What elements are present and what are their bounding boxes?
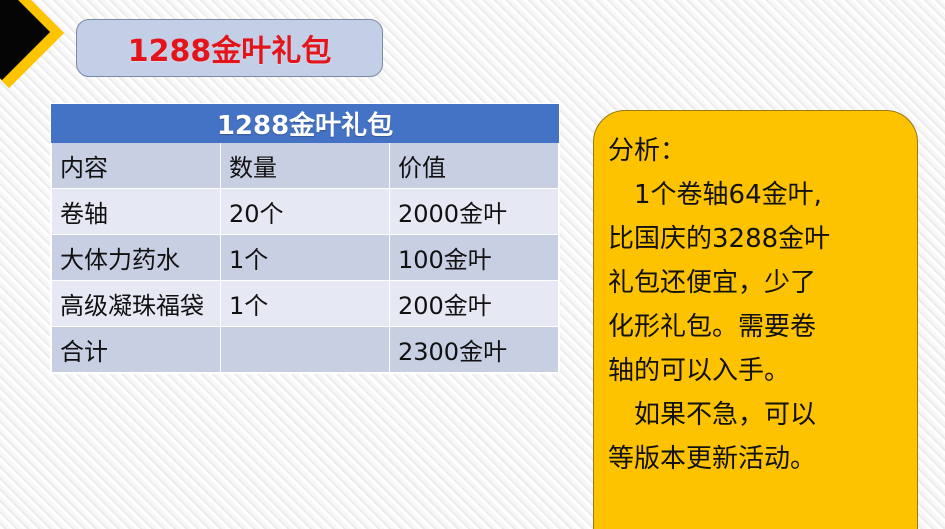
cell-item-qty: 20个 — [221, 189, 390, 235]
table-caption: 1288金叶礼包 — [52, 105, 559, 143]
table-row: 大体力药水 1个 100金叶 — [52, 235, 559, 281]
analysis-line: 轴的可以入手。 — [608, 349, 903, 393]
gift-pack-table-body: 1288金叶礼包 内容 数量 价值 卷轴 20个 2000金叶 大体力药水 1个… — [52, 105, 559, 373]
cell-item-value: 100金叶 — [390, 235, 559, 281]
cell-item-name: 大体力药水 — [52, 235, 221, 281]
analysis-line: 如果不急，可以 — [608, 393, 903, 437]
analysis-heading: 分析： — [608, 129, 903, 173]
table-caption-row: 1288金叶礼包 — [52, 105, 559, 143]
cell-item-value: 200金叶 — [390, 281, 559, 327]
table-total-row: 合计 2300金叶 — [52, 327, 559, 373]
cell-total-label: 合计 — [52, 327, 221, 373]
table-column-header-row: 内容 数量 价值 — [52, 143, 559, 189]
page-title: 1288金叶礼包 — [128, 26, 332, 70]
column-header-value: 价值 — [390, 143, 559, 189]
analysis-line: 化形礼包。需要卷 — [608, 305, 903, 349]
cell-total-value: 2300金叶 — [390, 327, 559, 373]
cell-item-name: 高级凝珠福袋 — [52, 281, 221, 327]
cell-item-value: 2000金叶 — [390, 189, 559, 235]
analysis-line: 等版本更新活动。 — [608, 437, 903, 481]
cell-item-name: 卷轴 — [52, 189, 221, 235]
gift-pack-table: 1288金叶礼包 内容 数量 价值 卷轴 20个 2000金叶 大体力药水 1个… — [51, 104, 559, 373]
analysis-callout: 分析： 1个卷轴64金叶, 比国庆的3288金叶 礼包还便宜，少了 化形礼包。需… — [593, 110, 918, 529]
analysis-line: 比国庆的3288金叶 — [608, 217, 903, 261]
column-header-content: 内容 — [52, 143, 221, 189]
analysis-line: 1个卷轴64金叶, — [608, 173, 903, 217]
slide-title-pill: 1288金叶礼包 — [76, 19, 383, 77]
table-row: 高级凝珠福袋 1个 200金叶 — [52, 281, 559, 327]
column-header-quantity: 数量 — [221, 143, 390, 189]
analysis-line: 礼包还便宜，少了 — [608, 261, 903, 305]
table-row: 卷轴 20个 2000金叶 — [52, 189, 559, 235]
cell-total-qty — [221, 327, 390, 373]
cell-item-qty: 1个 — [221, 281, 390, 327]
corner-arrow-decoration — [0, 0, 62, 104]
cell-item-qty: 1个 — [221, 235, 390, 281]
slide-canvas: 1288金叶礼包 1288金叶礼包 内容 数量 价值 卷轴 20个 2000金叶… — [0, 0, 945, 529]
